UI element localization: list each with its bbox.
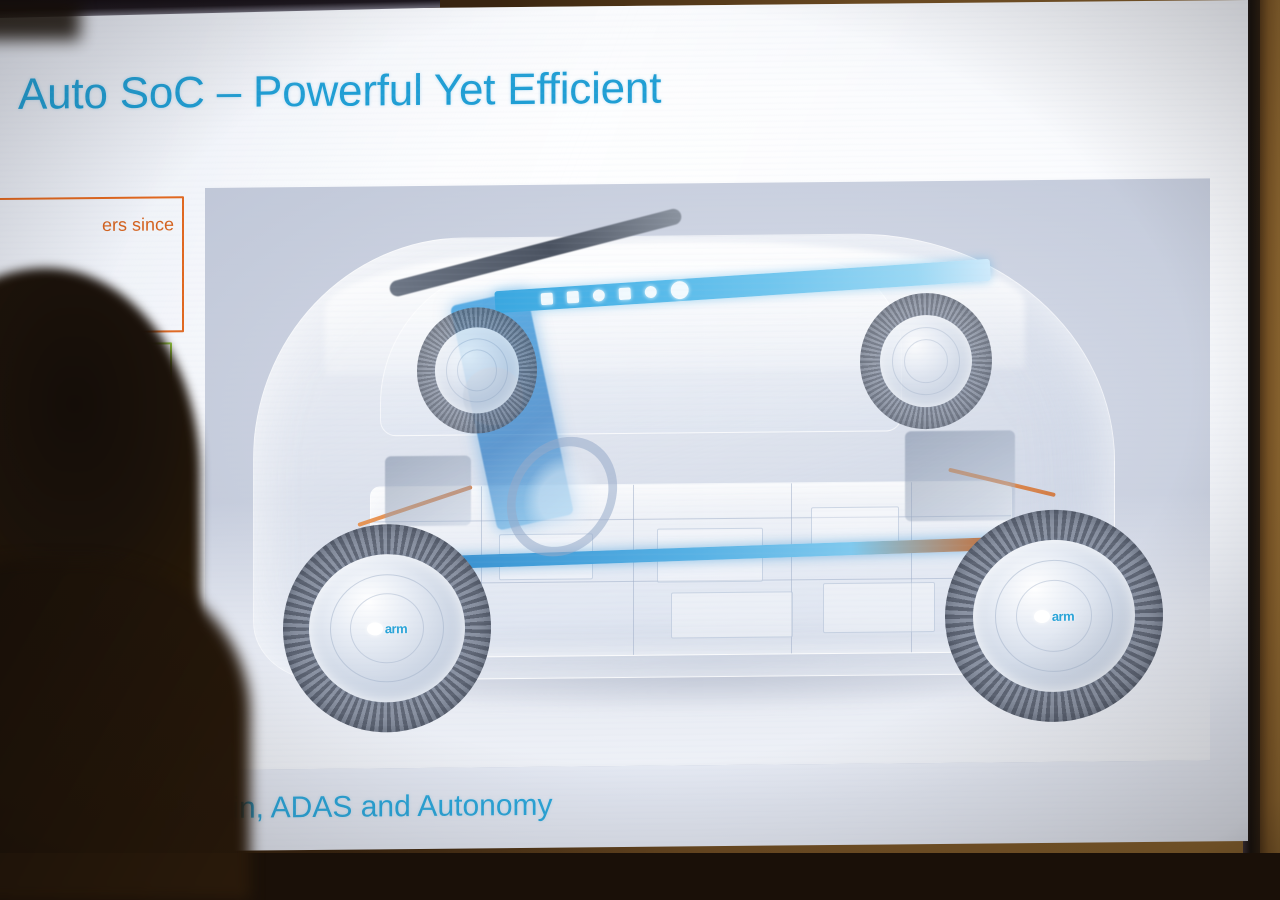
room-background: Auto SoC – Powerful Yet Efficient ers si… [0, 0, 1280, 853]
wall-right-panel [1258, 0, 1280, 853]
battery-module [671, 591, 793, 638]
wheel-hub: arm [367, 621, 407, 636]
wheel-rear-right: arm [945, 509, 1163, 723]
eye-icon [593, 289, 606, 302]
rim: arm [309, 554, 465, 703]
wheel-hub: arm [1034, 608, 1074, 623]
vehicle-illustration: arm arm [205, 178, 1210, 770]
rim [435, 327, 519, 414]
page-title: Auto SoC – Powerful Yet Efficient [18, 64, 661, 120]
signal-icon [541, 292, 554, 305]
hub-center [367, 622, 383, 635]
wheel-front-far [417, 307, 537, 434]
wheel-front-left: arm [283, 523, 491, 733]
rim: arm [973, 539, 1135, 693]
volume-icon [618, 287, 631, 300]
wheel-rear-far [860, 292, 992, 429]
front-suspension-assembly [385, 455, 471, 526]
foreground-shadow-top [0, 0, 80, 40]
rim [880, 315, 972, 408]
floorpan-line [633, 485, 634, 655]
dial-icon [670, 281, 689, 300]
hub-center [1034, 609, 1050, 622]
arm-logo: arm [1052, 608, 1074, 623]
arm-logo: arm [385, 621, 407, 636]
rear-drive-assembly [905, 430, 1015, 521]
battery-module [823, 582, 935, 633]
lock-icon [567, 291, 580, 304]
lamp-icon [644, 286, 657, 299]
orange-callout-label: ers since [102, 214, 174, 236]
